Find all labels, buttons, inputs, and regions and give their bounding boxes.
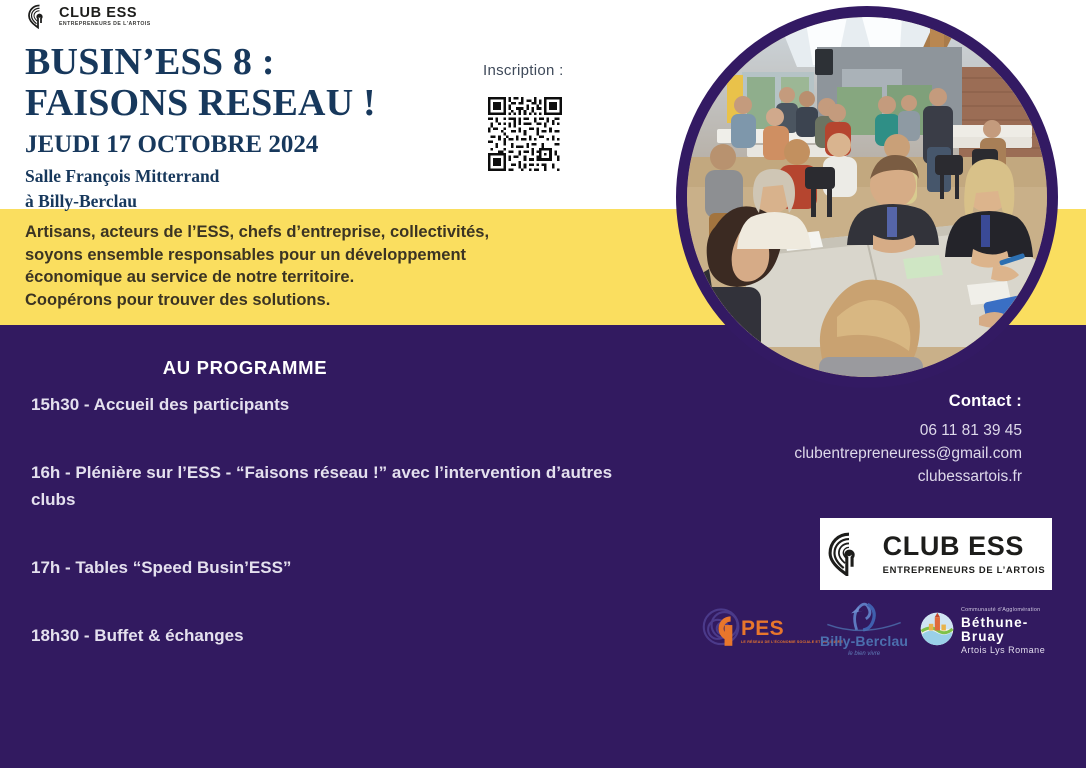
banner-line-3: économique au service de notre territoir…: [25, 266, 665, 289]
banner-line-1: Artisans, acteurs de l’ESS, chefs d’entr…: [25, 221, 665, 244]
club-ess-logo-name: CLUB ESS: [883, 533, 1046, 560]
list-item: 16h - Plénière sur l’ESS - “Faisons rése…: [31, 460, 651, 513]
contact-phone[interactable]: 06 11 81 39 45: [794, 420, 1022, 443]
bethune-bruay-logo-sub: Artois Lys Romane: [961, 646, 1068, 655]
inscription-label: Inscription :: [483, 62, 643, 79]
contact-block: Contact : 06 11 81 39 45 clubentrepreneu…: [794, 392, 1022, 488]
pin-spiral-icon: [27, 4, 52, 29]
event-photo: [676, 6, 1058, 388]
contact-email[interactable]: clubentrepreneuress@gmail.com: [794, 443, 1022, 466]
title-line-2: FAISONS RESEAU !: [25, 83, 475, 124]
bethune-bruay-logo-top: Communauté d’Agglomération: [961, 608, 1068, 613]
poster-root: CLUB ESS ENTREPRENEURS DE L'ARTOIS BUSIN…: [0, 0, 1086, 768]
qr-code-icon[interactable]: [488, 97, 562, 171]
list-item: 17h - Tables “Speed Busin’ESS”: [31, 555, 651, 581]
header-logo: CLUB ESS ENTREPRENEURS DE L'ARTOIS: [27, 4, 151, 29]
list-item: 18h30 - Buffet & échanges: [31, 623, 651, 649]
contact-website[interactable]: clubessartois.fr: [794, 466, 1022, 489]
header-logo-words: CLUB ESS ENTREPRENEURS DE L'ARTOIS: [59, 6, 151, 28]
billy-berclau-logo-icon: Billy-Berclau le bien vivre: [820, 602, 908, 657]
banner-line-4: Coopérons pour trouver des solutions.: [25, 289, 665, 312]
partner-logos: PES LE RÉSEAU DE L’ÉCONOMIE SOCIALE ET S…: [698, 602, 1068, 654]
bethune-bruay-logo-words: Communauté d’Agglomération Béthune-Bruay…: [961, 608, 1068, 655]
header-logo-name: CLUB ESS: [59, 6, 151, 21]
bethune-bruay-logo-icon: [920, 612, 954, 651]
venue-line-2: à Billy-Berclau: [25, 190, 475, 212]
venue-line-1: Salle François Mitterrand: [25, 165, 475, 187]
title-line-1: BUSIN’ESS 8 :: [25, 42, 475, 83]
partner-logo-bethune-bruay: Communauté d’Agglomération Béthune-Bruay…: [920, 608, 1068, 655]
pin-spiral-icon: [827, 532, 871, 576]
club-ess-logo-tagline: ENTREPRENEURS DE L’ARTOIS: [883, 565, 1046, 574]
inscription-block: Inscription :: [483, 62, 643, 171]
bethune-bruay-logo-name: Béthune-Bruay: [961, 616, 1068, 643]
programme-list: 15h30 - Accueil des participants 16h - P…: [31, 392, 651, 650]
list-item: 15h30 - Accueil des participants: [31, 392, 651, 418]
partner-logo-billy-berclau: Billy-Berclau le bien vivre: [820, 602, 908, 657]
event-photo-image: [687, 17, 1047, 377]
billy-berclau-logo-name: Billy-Berclau: [820, 634, 908, 648]
contact-heading: Contact :: [794, 392, 1022, 411]
programme-heading: AU PROGRAMME: [0, 357, 490, 379]
banner-text: Artisans, acteurs de l’ESS, chefs d’entr…: [25, 221, 665, 311]
event-date: JEUDI 17 OCTOBRE 2024: [25, 128, 475, 162]
club-ess-logo-words: CLUB ESS ENTREPRENEURS DE L’ARTOIS: [883, 533, 1046, 574]
banner-line-2: soyons ensemble responsables pour un dév…: [25, 244, 665, 267]
club-ess-logo-card: CLUB ESS ENTREPRENEURS DE L’ARTOIS: [820, 518, 1052, 590]
header-logo-tagline: ENTREPRENEURS DE L'ARTOIS: [59, 22, 151, 27]
title-block: BUSIN’ESS 8 : FAISONS RESEAU ! JEUDI 17 …: [25, 42, 475, 213]
billy-berclau-logo-sub: le bien vivre: [848, 651, 880, 657]
